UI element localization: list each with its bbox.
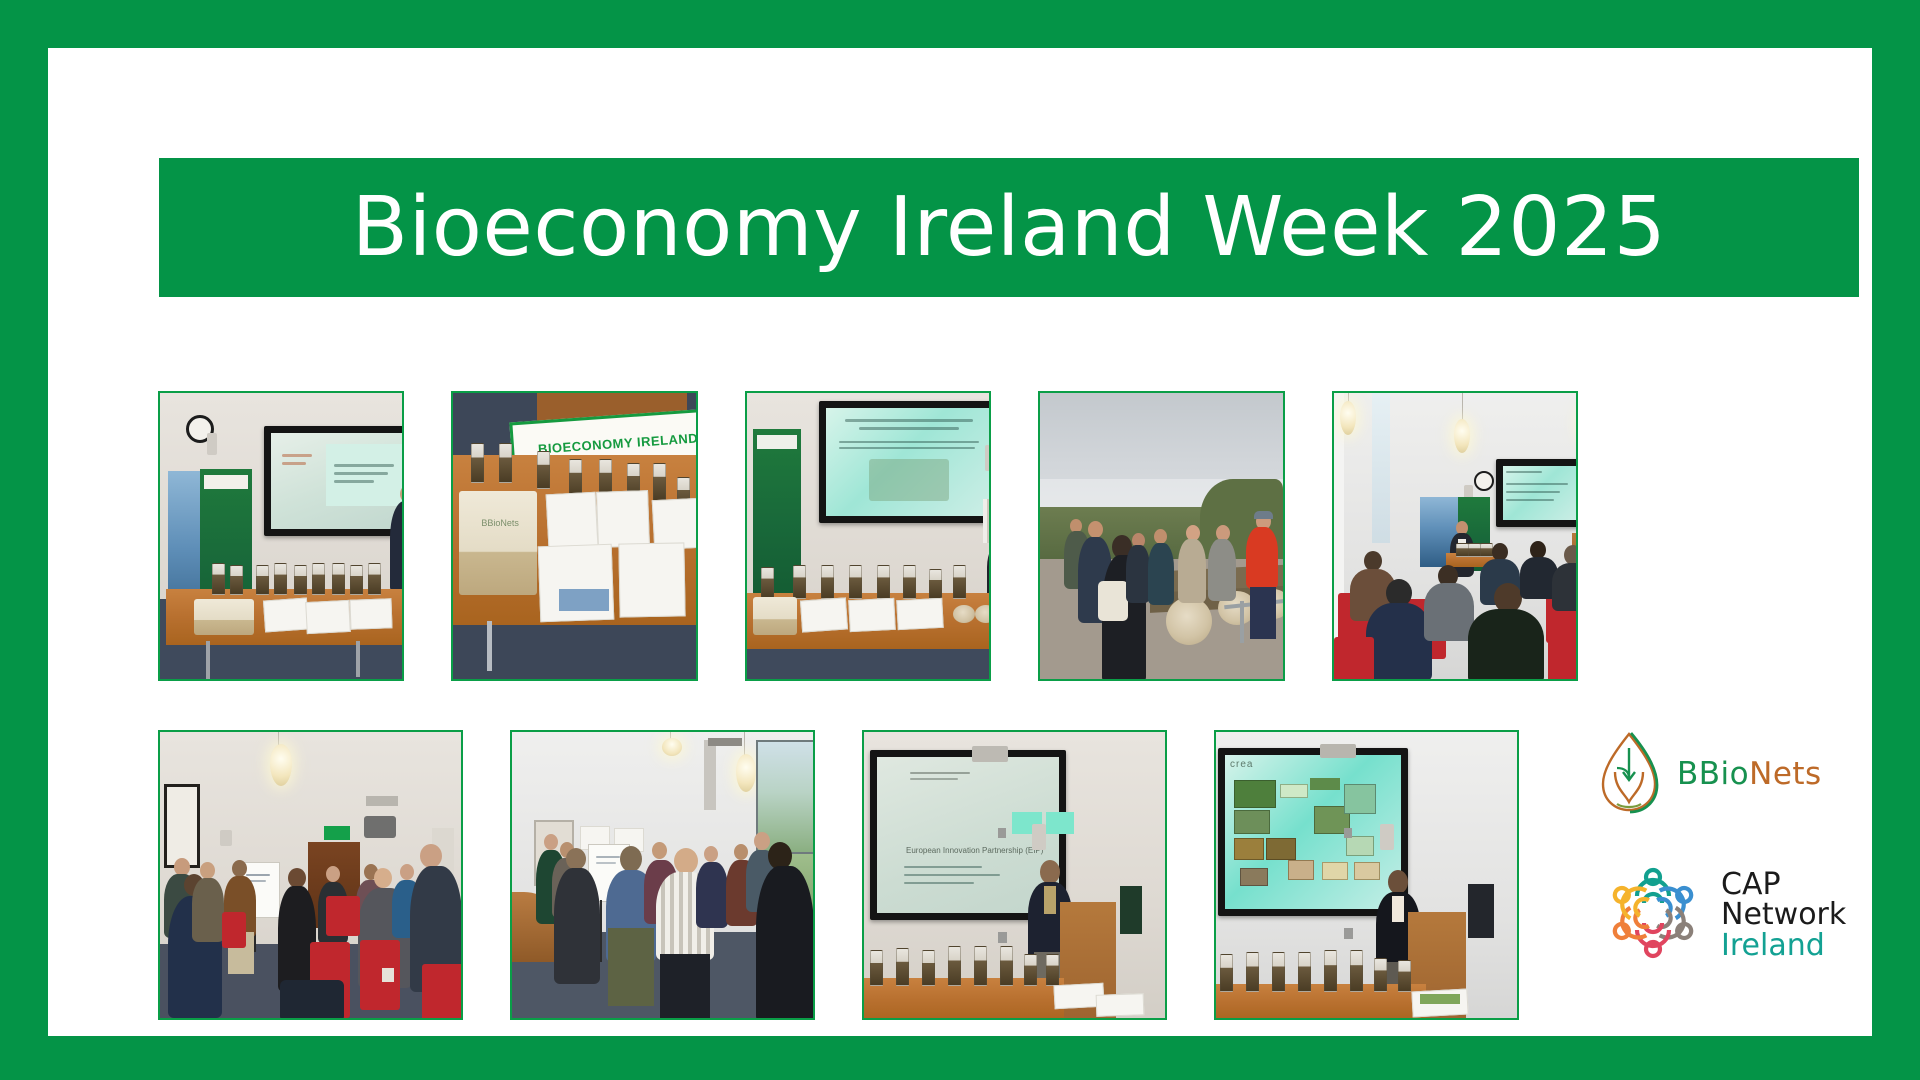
title-banner: Bioeconomy Ireland Week 2025	[159, 158, 1859, 297]
photo-9-slide-title: crea	[1230, 759, 1253, 770]
bbionets-word-secondary: Nets	[1749, 756, 1822, 792]
poster-white-panel: Bioeconomy Ireland Week 2025	[48, 48, 1872, 1036]
photo-4[interactable]	[1038, 391, 1284, 681]
cap-line-2: Network	[1721, 900, 1846, 931]
bbionets-word-primary: BBio	[1677, 756, 1749, 792]
photo-2[interactable]: BIOECONOMY IRELAND	[451, 391, 697, 681]
poster-canvas: Bioeconomy Ireland Week 2025	[0, 0, 1920, 1080]
logo-stack: BBioNets	[1593, 728, 1883, 973]
photo-grid: BIOECONOMY IRELAND	[158, 391, 1578, 1020]
people-circle-icon	[1599, 859, 1707, 972]
page-title: Bioeconomy Ireland Week 2025	[352, 187, 1667, 269]
photo-8-slide-title: European Innovation Partnership (EIP)	[906, 846, 1043, 855]
bbionets-logo: BBioNets	[1593, 728, 1883, 820]
photo-8[interactable]: European Innovation Partnership (EIP)	[862, 730, 1167, 1020]
photo-1[interactable]	[158, 391, 404, 681]
photo-2-tote-text: BBioNets	[481, 518, 519, 528]
photo-3[interactable]	[745, 391, 991, 681]
cap-line-3: Ireland	[1721, 931, 1846, 962]
cap-wordmark: CAP Network Ireland	[1721, 870, 1846, 962]
photo-5[interactable]	[1332, 391, 1578, 681]
photo-7[interactable]	[510, 730, 815, 1020]
leaf-droplet-icon	[1593, 728, 1665, 821]
photo-grid-row-1: BIOECONOMY IRELAND	[158, 391, 1578, 681]
cap-line-1: CAP	[1721, 870, 1846, 901]
photo-9[interactable]: crea	[1214, 730, 1519, 1020]
photo-2-sign-text: BIOECONOMY IRELAND	[538, 430, 696, 456]
photo-grid-row-2: European Innovation Partnership (EIP)	[158, 730, 1578, 1020]
cap-network-ireland-logo: CAP Network Ireland	[1599, 858, 1883, 973]
photo-6[interactable]	[158, 730, 463, 1020]
bbionets-wordmark: BBioNets	[1677, 756, 1822, 792]
